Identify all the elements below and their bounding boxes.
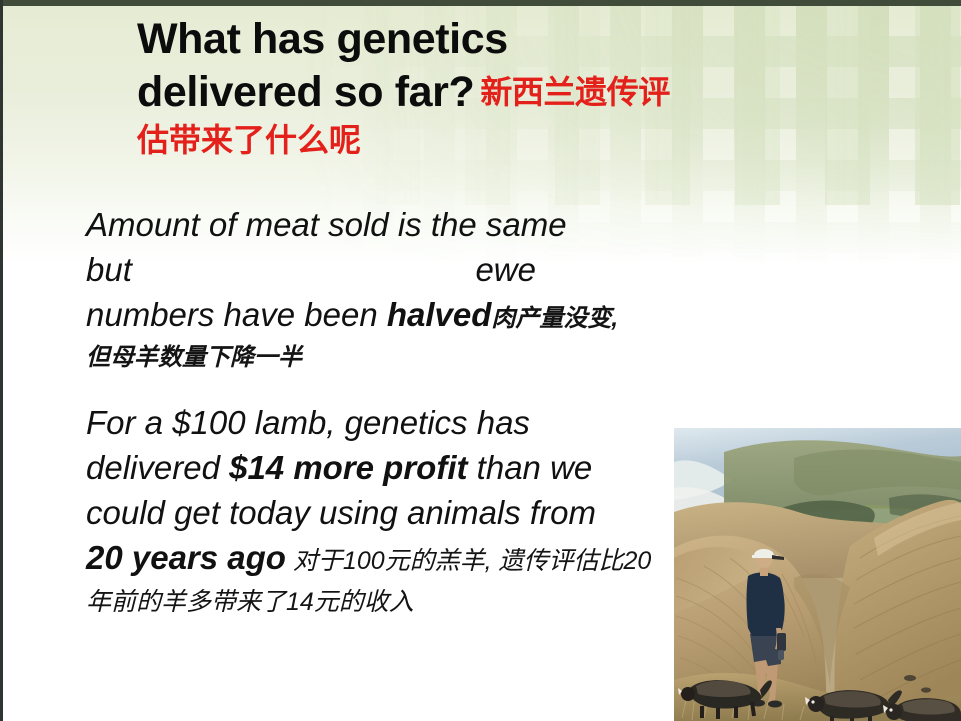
para1-line-3-emphasis: halved <box>387 296 492 333</box>
slide-canvas: What has genetics delivered so far?新西兰遗传… <box>0 0 961 721</box>
title-line-2: delivered so far?新西兰遗传评 <box>137 67 837 117</box>
top-border-strip <box>0 0 961 6</box>
title-line-2-english: delivered so far? <box>137 68 474 116</box>
para1-line-1: Amount of meat sold is the same <box>86 202 676 247</box>
title-line-2-chinese: 新西兰遗传评 <box>480 74 670 110</box>
para1-line-2-ewe: ewe <box>475 247 536 292</box>
para2-line-5-chinese: 年前的羊多带来了14元的收入 <box>86 584 682 620</box>
left-border-strip <box>0 0 3 721</box>
para1-line-2-but: but <box>86 247 132 292</box>
paragraph-lamb-profit: For a $100 lamb, genetics has delivered … <box>86 400 682 620</box>
para2-line-3: could get today using animals from <box>86 490 682 535</box>
slide-title: What has genetics delivered so far?新西兰遗传… <box>137 14 837 158</box>
para2-line-4-emphasis: 20 years ago <box>86 539 286 576</box>
para2-line-4: 20 years ago 对于100元的羔羊, 遗传评估比20 <box>86 535 682 584</box>
title-line-3-chinese: 估带来了什么呢 <box>137 123 837 158</box>
para1-line-3-text: numbers have been <box>86 296 387 333</box>
para2-line-1: For a $100 lamb, genetics has <box>86 400 682 445</box>
paragraph-meat-sold: Amount of meat sold is the same but ewe … <box>86 202 676 375</box>
para2-line-2-prefix: delivered <box>86 449 229 486</box>
para2-line-2: delivered $14 more profit than we <box>86 445 682 490</box>
para2-line-2-emphasis: $14 more profit <box>229 449 467 486</box>
para1-line-3-chinese: 肉产量没变, <box>491 305 618 332</box>
para2-line-4-chinese: 对于100元的羔羊, 遗传评估比20 <box>286 547 651 575</box>
photo-illustration <box>674 428 961 721</box>
para1-line-2: but ewe <box>86 247 536 292</box>
para2-line-2-suffix: than we <box>468 449 593 486</box>
title-line-1: What has genetics <box>137 14 837 64</box>
para1-line-3: numbers have been halved肉产量没变, <box>86 292 676 341</box>
photo-farmer-with-sheepdogs <box>674 428 961 721</box>
para1-line-4-chinese: 但母羊数量下降一半 <box>86 341 676 375</box>
